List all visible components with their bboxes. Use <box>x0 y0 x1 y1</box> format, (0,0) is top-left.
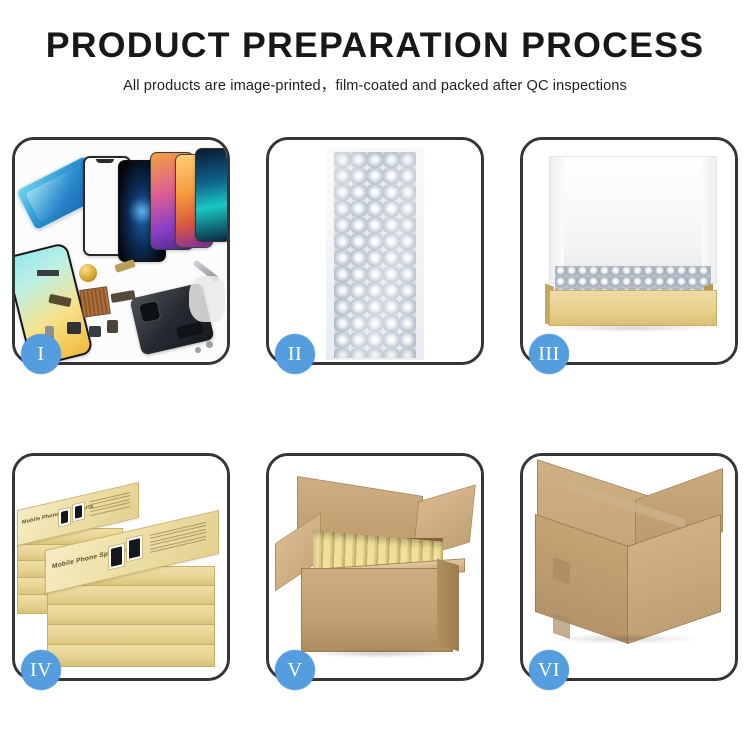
step-5-image <box>269 456 481 678</box>
carton-side-face <box>437 559 459 652</box>
sealed-carton-scene <box>523 456 735 678</box>
process-step-1: I <box>12 137 230 365</box>
chip-grid-part <box>79 286 111 318</box>
step-badge-4: IV <box>21 650 61 690</box>
header: PRODUCT PREPARATION PROCESS All products… <box>0 28 750 95</box>
speaker-coil-part <box>79 264 97 282</box>
carton-shadow <box>305 649 455 658</box>
box-art-phone-back-2 <box>72 501 85 522</box>
box-art-phone-front-2 <box>126 534 143 562</box>
process-step-5: V <box>266 453 484 681</box>
bubble-wrap-sheet <box>326 148 424 360</box>
box-stack: Mobile Phone Spare Parts <box>17 474 227 674</box>
screw-part-1 <box>206 341 213 348</box>
small-component-3 <box>107 320 118 333</box>
process-step-4: Mobile Phone Spare Parts <box>12 453 230 681</box>
process-step-grid: I II <box>12 137 738 681</box>
step-2-image <box>269 140 481 362</box>
box-art-textlines-back <box>90 492 130 518</box>
step-badge-5: V <box>275 650 315 690</box>
step-badge-2: II <box>275 334 315 374</box>
box-art-textlines-front <box>150 522 206 555</box>
step-1-image <box>15 140 227 362</box>
inner-box-lid <box>549 156 717 284</box>
process-step-6: VI <box>520 453 738 681</box>
process-step-2: II <box>266 137 484 365</box>
small-component-2 <box>89 326 101 337</box>
battery-connector-part <box>37 270 59 276</box>
bubble-wrap-scene <box>269 140 481 362</box>
sealed-carton-shadow <box>549 634 699 644</box>
phones-and-parts-scene <box>15 140 227 362</box>
open-carton-scene <box>269 456 481 678</box>
page-title: PRODUCT PREPARATION PROCESS <box>0 28 750 65</box>
stacked-boxes-scene: Mobile Phone Spare Parts <box>15 456 227 678</box>
phone-screen-cyan <box>195 148 227 242</box>
box-art-phone-back-1 <box>58 507 71 528</box>
inner-box-shadow <box>553 324 711 332</box>
small-component-1 <box>67 322 81 334</box>
stacked-box-front-2 <box>47 585 215 606</box>
stacked-box-front-3 <box>47 604 215 626</box>
step-3-image <box>523 140 735 362</box>
stacked-box-front-4 <box>47 624 215 646</box>
box-art-phone-front-1 <box>108 543 125 571</box>
carton-front-face <box>301 568 453 652</box>
hand-silhouette <box>189 276 225 322</box>
step-badge-3: III <box>529 334 569 374</box>
stacked-box-front-5 <box>47 644 215 667</box>
process-step-3: III <box>520 137 738 365</box>
step-4-image: Mobile Phone Spare Parts <box>15 456 227 678</box>
product-preparation-process-infographic: PRODUCT PREPARATION PROCESS All products… <box>0 0 750 750</box>
bubble-wrap-sheen <box>326 148 424 360</box>
screw-part-2 <box>195 347 201 353</box>
inner-box-front-panel <box>549 290 717 326</box>
page-subtitle: All products are image-printed，film-coat… <box>0 74 750 95</box>
step-6-image <box>523 456 735 678</box>
step-badge-6: VI <box>529 650 569 690</box>
inner-box-bubble-items <box>555 266 711 292</box>
open-inner-box-scene <box>523 140 735 362</box>
step-badge-1: I <box>21 334 61 374</box>
